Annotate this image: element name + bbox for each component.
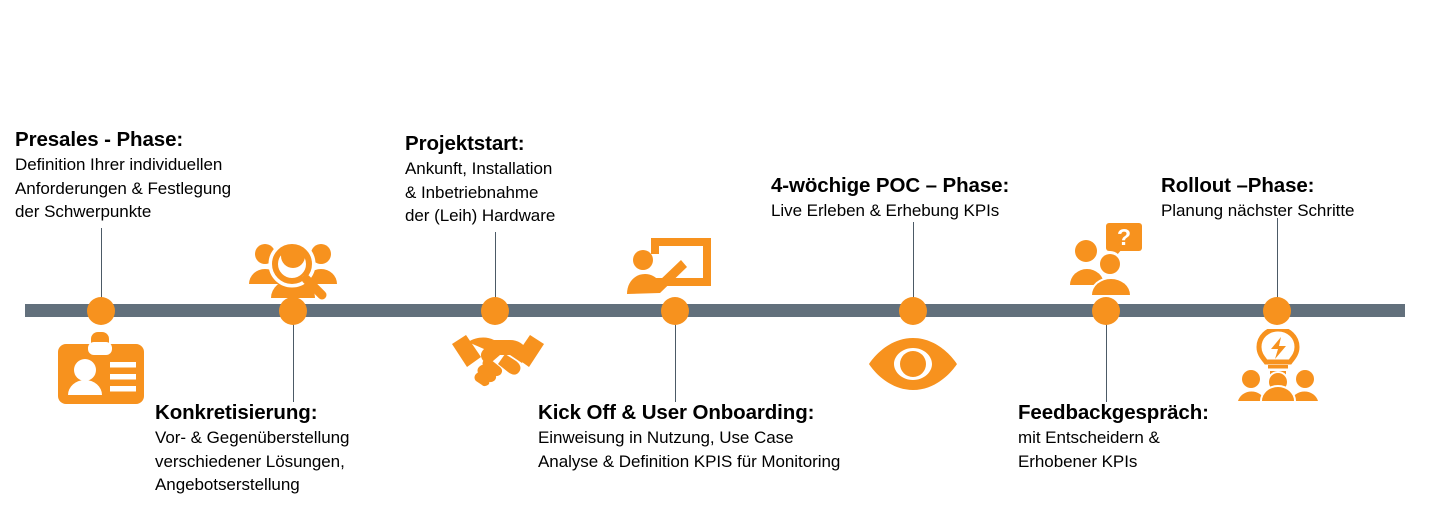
process-timeline-diagram: ? [0,0,1440,515]
step-label-rollout: Rollout –Phase: Planung nächster Schritt… [1161,172,1354,223]
connector-rollout [1277,218,1278,306]
timeline-bar [25,304,1405,317]
handshake-icon [450,330,546,388]
step-title-konkretisierung: Konkretisierung: [155,399,349,426]
connector-feedback [1106,314,1107,402]
step-title-poc: 4-wöchige POC – Phase: [771,172,1009,199]
connector-konkretisierung [293,314,294,402]
step-body-poc: Live Erleben & Erhebung KPIs [771,199,1009,223]
step-label-presales: Presales - Phase: Definition Ihrer indiv… [15,126,231,224]
timeline-node-presales[interactable] [87,297,115,325]
people-question-icon: ? [1070,223,1142,295]
timeline-node-konkretisierung[interactable] [279,297,307,325]
step-body-kickoff: Einweisung in Nutzung, Use Case Analyse … [538,426,840,473]
step-title-projektstart: Projektstart: [405,130,555,157]
connector-projektstart [495,232,496,306]
svg-text:?: ? [1117,224,1131,250]
people-search-icon [249,240,337,302]
timeline-node-kickoff[interactable] [661,297,689,325]
step-label-kickoff: Kick Off & User Onboarding: Einweisung i… [538,399,840,473]
step-label-poc: 4-wöchige POC – Phase: Live Erleben & Er… [771,172,1009,223]
step-title-presales: Presales - Phase: [15,126,231,153]
timeline-node-poc[interactable] [899,297,927,325]
step-body-rollout: Planung nächster Schritte [1161,199,1354,223]
id-badge-icon [58,332,144,404]
presentation-icon [627,236,713,296]
step-title-feedback: Feedbackgespräch: [1018,399,1209,426]
timeline-node-projektstart[interactable] [481,297,509,325]
step-body-konkretisierung: Vor- & Gegenüberstellung verschiedener L… [155,426,349,497]
step-body-projektstart: Ankunft, Installation & Inbetriebnahme d… [405,157,555,228]
connector-poc [913,222,914,306]
idea-team-icon [1238,329,1318,401]
connector-kickoff [675,314,676,402]
step-label-konkretisierung: Konkretisierung: Vor- & Gegenüberstellun… [155,399,349,497]
eye-icon [865,336,961,392]
step-title-kickoff: Kick Off & User Onboarding: [538,399,840,426]
step-body-presales: Definition Ihrer individuellen Anforderu… [15,153,231,224]
timeline-node-rollout[interactable] [1263,297,1291,325]
step-label-projektstart: Projektstart: Ankunft, Installation & In… [405,130,555,228]
step-title-rollout: Rollout –Phase: [1161,172,1354,199]
step-body-feedback: mit Entscheidern & Erhobener KPIs [1018,426,1209,473]
timeline-node-feedback[interactable] [1092,297,1120,325]
connector-presales [101,228,102,306]
step-label-feedback: Feedbackgespräch: mit Entscheidern & Erh… [1018,399,1209,473]
